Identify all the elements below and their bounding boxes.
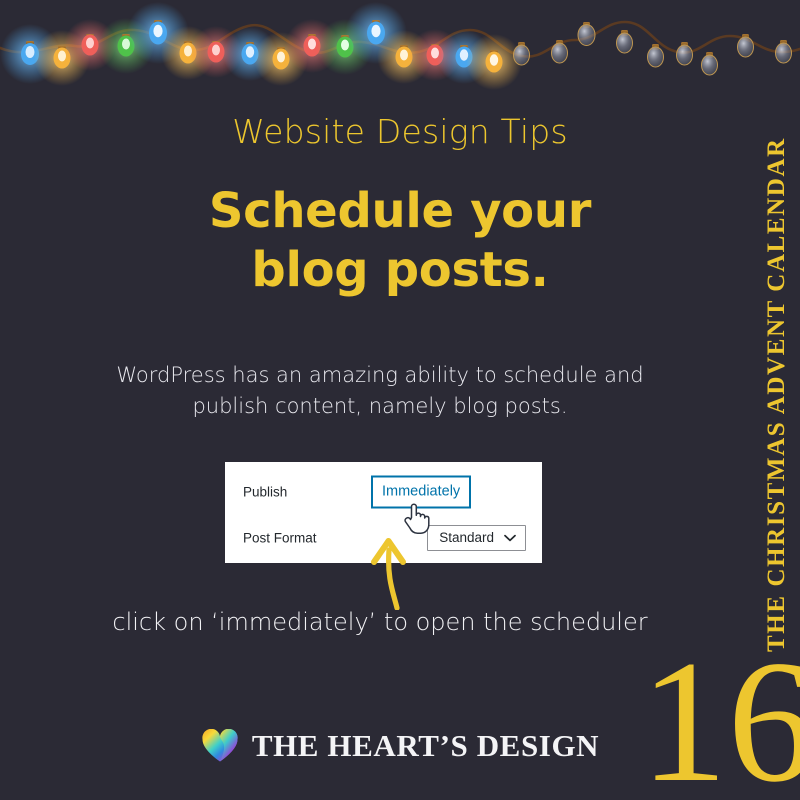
headline-line-1: Schedule your bbox=[0, 182, 800, 241]
chevron-down-icon bbox=[504, 534, 516, 542]
christmas-string-lights bbox=[0, 0, 800, 95]
body-line-2: publish content, namely blog posts. bbox=[100, 391, 660, 422]
body-paragraph: WordPress has an amazing ability to sche… bbox=[100, 360, 660, 422]
brand-logo: THE HEART’S DESIGN bbox=[0, 728, 800, 764]
headline-line-2: blog posts. bbox=[0, 241, 800, 300]
publish-label: Publish bbox=[243, 485, 287, 500]
advent-calendar-vertical-label: THE CHRISTMAS ADVENT CALENDAR bbox=[763, 192, 791, 652]
publish-immediately-label: Immediately bbox=[382, 484, 460, 500]
brand-logo-text: THE HEART’S DESIGN bbox=[252, 728, 599, 764]
publish-row: Publish Immediately bbox=[225, 469, 542, 515]
body-line-1: WordPress has an amazing ability to sche… bbox=[100, 360, 660, 391]
day-number: 16TH bbox=[640, 640, 800, 800]
post-format-label: Post Format bbox=[243, 531, 317, 546]
page-title: Schedule your blog posts. bbox=[0, 182, 800, 300]
publish-immediately-button[interactable]: Immediately bbox=[371, 476, 471, 509]
annotation-caption: click on ‘immediately’ to open the sched… bbox=[60, 608, 700, 636]
wordpress-publish-panel: Publish Immediately Post Format Standard bbox=[225, 462, 542, 563]
rainbow-heart-logo-icon bbox=[201, 729, 239, 763]
advent-calendar-vertical-title: THE CHRISTMAS ADVENT CALENDAR bbox=[757, 188, 797, 648]
post-format-select[interactable]: Standard bbox=[427, 525, 526, 551]
post-format-value: Standard bbox=[439, 530, 494, 545]
post-format-row: Post Format Standard bbox=[225, 515, 542, 561]
advent-calendar-slide: Website Design Tips Schedule your blog p… bbox=[0, 0, 800, 800]
eyebrow-title: Website Design Tips bbox=[0, 112, 800, 151]
day-number-value: 16 bbox=[640, 624, 800, 800]
